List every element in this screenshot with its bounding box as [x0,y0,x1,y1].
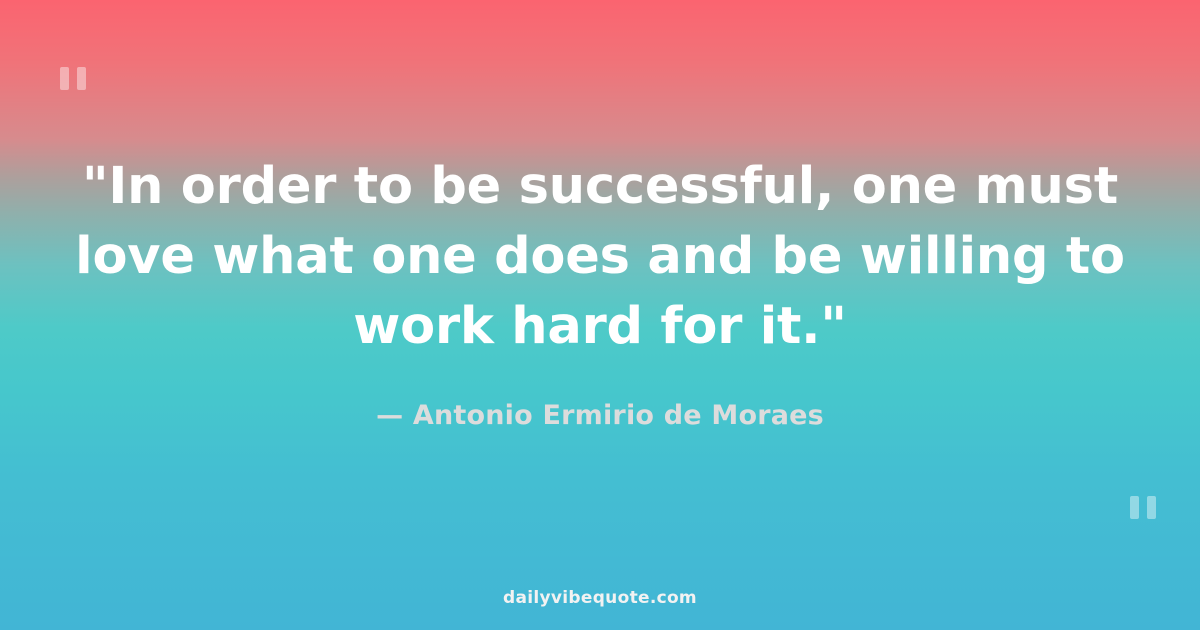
quote-attribution: — Antonio Ermirio de Moraes [60,400,1140,431]
quote-body: "In order to be successful, one must lov… [60,152,1140,362]
quote-card: "In order to be successful, one must lov… [0,0,1200,630]
footer-watermark: dailyvibequote.com [0,588,1200,608]
quote-bar-right [1147,496,1156,519]
close-quote-icon [1130,496,1156,519]
quote-bar-left [1130,496,1139,519]
quote-bar-right [77,67,86,90]
quote-text: "In order to be successful, one must lov… [60,152,1140,362]
quote-bar-left [60,67,69,90]
open-quote-icon [60,67,86,90]
